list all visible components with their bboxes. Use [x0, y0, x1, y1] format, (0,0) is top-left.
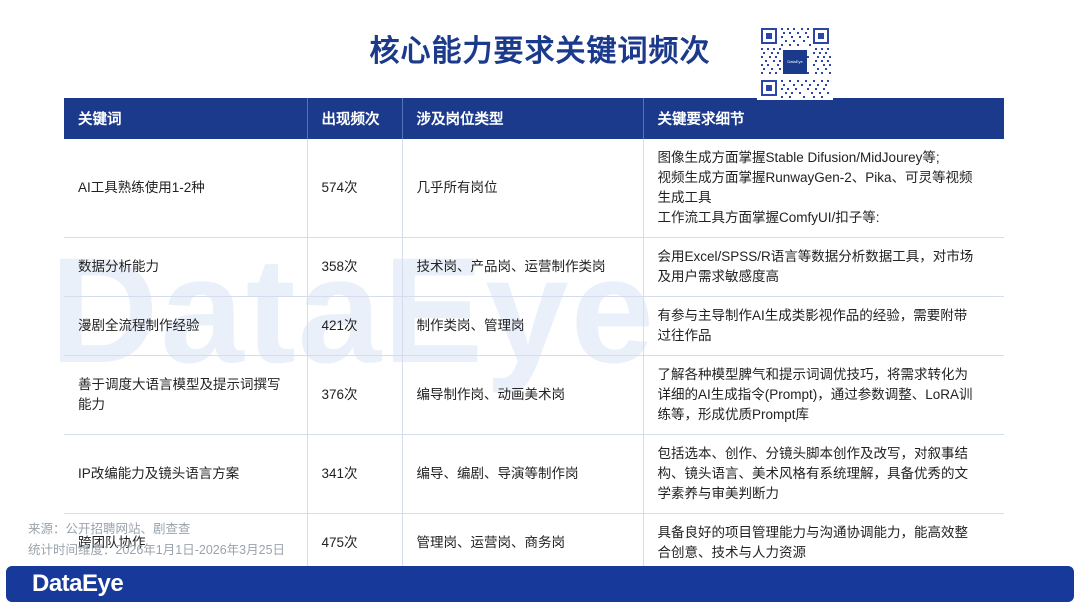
slide-header: 核心能力要求关键词频次	[0, 0, 1080, 98]
column-header-keyword: 关键词	[64, 98, 307, 139]
footer-source-line: 来源：公开招聘网站、剧查查	[28, 519, 285, 540]
column-header-frequency: 出现频次	[307, 98, 402, 139]
cell-frequency: 421次	[307, 296, 402, 355]
detail-line: 视频生成方面掌握RunwayGen-2、Pika、可灵等视频	[658, 168, 991, 188]
table-row: 漫剧全流程制作经验421次制作类岗、管理岗有参与主导制作AI生成类影视作品的经验…	[64, 296, 1004, 355]
table-header-row: 关键词 出现频次 涉及岗位类型 关键要求细节	[64, 98, 1004, 139]
cell-job-types: 制作类岗、管理岗	[402, 296, 643, 355]
detail-line: 了解各种模型脾气和提示词调优技巧，将需求转化为	[658, 365, 991, 385]
cell-job-types: 编导、编剧、导演等制作岗	[402, 434, 643, 513]
footer-source-note: 来源：公开招聘网站、剧查查 统计时间维度：2026年1月1日-2026年3月25…	[28, 519, 285, 560]
detail-line: 会用Excel/SPSS/R语言等数据分析数据工具，对市场	[658, 247, 991, 267]
cell-keyword: AI工具熟练使用1-2种	[64, 139, 307, 237]
detail-line: 练等，形成优质Prompt库	[658, 405, 991, 425]
cell-keyword: 漫剧全流程制作经验	[64, 296, 307, 355]
table-row: AI工具熟练使用1-2种574次几乎所有岗位图像生成方面掌握Stable Dif…	[64, 139, 1004, 237]
detail-line: 详细的AI生成指令(Prompt)，通过参数调整、LoRA训	[658, 385, 991, 405]
detail-line: 工作流工具方面掌握ComfyUI/扣子等:	[658, 208, 991, 228]
slide-root: DataEye 核心能力要求关键词频次	[0, 0, 1080, 608]
cell-frequency: 341次	[307, 434, 402, 513]
cell-details: 有参与主导制作AI生成类影视作品的经验，需要附带过往作品	[643, 296, 1004, 355]
detail-line: 具备良好的项目管理能力与沟通协调能力，能高效整	[658, 523, 991, 543]
cell-frequency: 574次	[307, 139, 402, 237]
cell-keyword: 数据分析能力	[64, 237, 307, 296]
column-header-job-types: 涉及岗位类型	[402, 98, 643, 139]
detail-line: 过往作品	[658, 326, 991, 346]
keyword-frequency-table-wrap: 关键词 出现频次 涉及岗位类型 关键要求细节 AI工具熟练使用1-2种574次几…	[64, 98, 1004, 573]
keyword-frequency-table: 关键词 出现频次 涉及岗位类型 关键要求细节 AI工具熟练使用1-2种574次几…	[64, 98, 1004, 573]
qr-code[interactable]: DataEye	[757, 24, 833, 100]
cell-frequency: 358次	[307, 237, 402, 296]
detail-line: 合创意、技术与人力资源	[658, 543, 991, 563]
cell-details: 图像生成方面掌握Stable Difusion/MidJourey等;视频生成方…	[643, 139, 1004, 237]
table-row: IP改编能力及镜头语言方案341次编导、编剧、导演等制作岗包括选本、创作、分镜头…	[64, 434, 1004, 513]
detail-line: 有参与主导制作AI生成类影视作品的经验，需要附带	[658, 306, 991, 326]
cell-frequency: 475次	[307, 513, 402, 572]
detail-line: 学素养与审美判断力	[658, 484, 991, 504]
brand-logo-bar: DataEye	[6, 566, 1074, 602]
detail-line: 包括选本、创作、分镜头脚本创作及改写，对叙事结	[658, 444, 991, 464]
cell-details: 具备良好的项目管理能力与沟通协调能力，能高效整合创意、技术与人力资源	[643, 513, 1004, 572]
page-title: 核心能力要求关键词频次	[0, 26, 1080, 70]
table-row: 数据分析能力358次技术岗、产品岗、运营制作类岗会用Excel/SPSS/R语言…	[64, 237, 1004, 296]
qr-center-logo: DataEye	[783, 50, 807, 74]
table-body: AI工具熟练使用1-2种574次几乎所有岗位图像生成方面掌握Stable Dif…	[64, 139, 1004, 572]
table-header: 关键词 出现频次 涉及岗位类型 关键要求细节	[64, 98, 1004, 139]
cell-details: 了解各种模型脾气和提示词调优技巧，将需求转化为详细的AI生成指令(Prompt)…	[643, 355, 1004, 434]
cell-keyword: 善于调度大语言模型及提示词撰写能力	[64, 355, 307, 434]
cell-job-types: 几乎所有岗位	[402, 139, 643, 237]
detail-line: 图像生成方面掌握Stable Difusion/MidJourey等;	[658, 148, 991, 168]
detail-line: 及用户需求敏感度高	[658, 267, 991, 287]
brand-logo-text: DataEye	[32, 566, 123, 602]
detail-line: 生成工具	[658, 188, 991, 208]
table-row: 善于调度大语言模型及提示词撰写能力376次编导制作岗、动画美术岗了解各种模型脾气…	[64, 355, 1004, 434]
cell-job-types: 管理岗、运营岗、商务岗	[402, 513, 643, 572]
cell-frequency: 376次	[307, 355, 402, 434]
cell-details: 包括选本、创作、分镜头脚本创作及改写，对叙事结构、镜头语言、美术风格有系统理解，…	[643, 434, 1004, 513]
footer-period-line: 统计时间维度：2026年1月1日-2026年3月25日	[28, 540, 285, 561]
cell-keyword: IP改编能力及镜头语言方案	[64, 434, 307, 513]
cell-job-types: 技术岗、产品岗、运营制作类岗	[402, 237, 643, 296]
detail-line: 构、镜头语言、美术风格有系统理解，具备优秀的文	[658, 464, 991, 484]
column-header-details: 关键要求细节	[643, 98, 1004, 139]
cell-job-types: 编导制作岗、动画美术岗	[402, 355, 643, 434]
cell-details: 会用Excel/SPSS/R语言等数据分析数据工具，对市场及用户需求敏感度高	[643, 237, 1004, 296]
